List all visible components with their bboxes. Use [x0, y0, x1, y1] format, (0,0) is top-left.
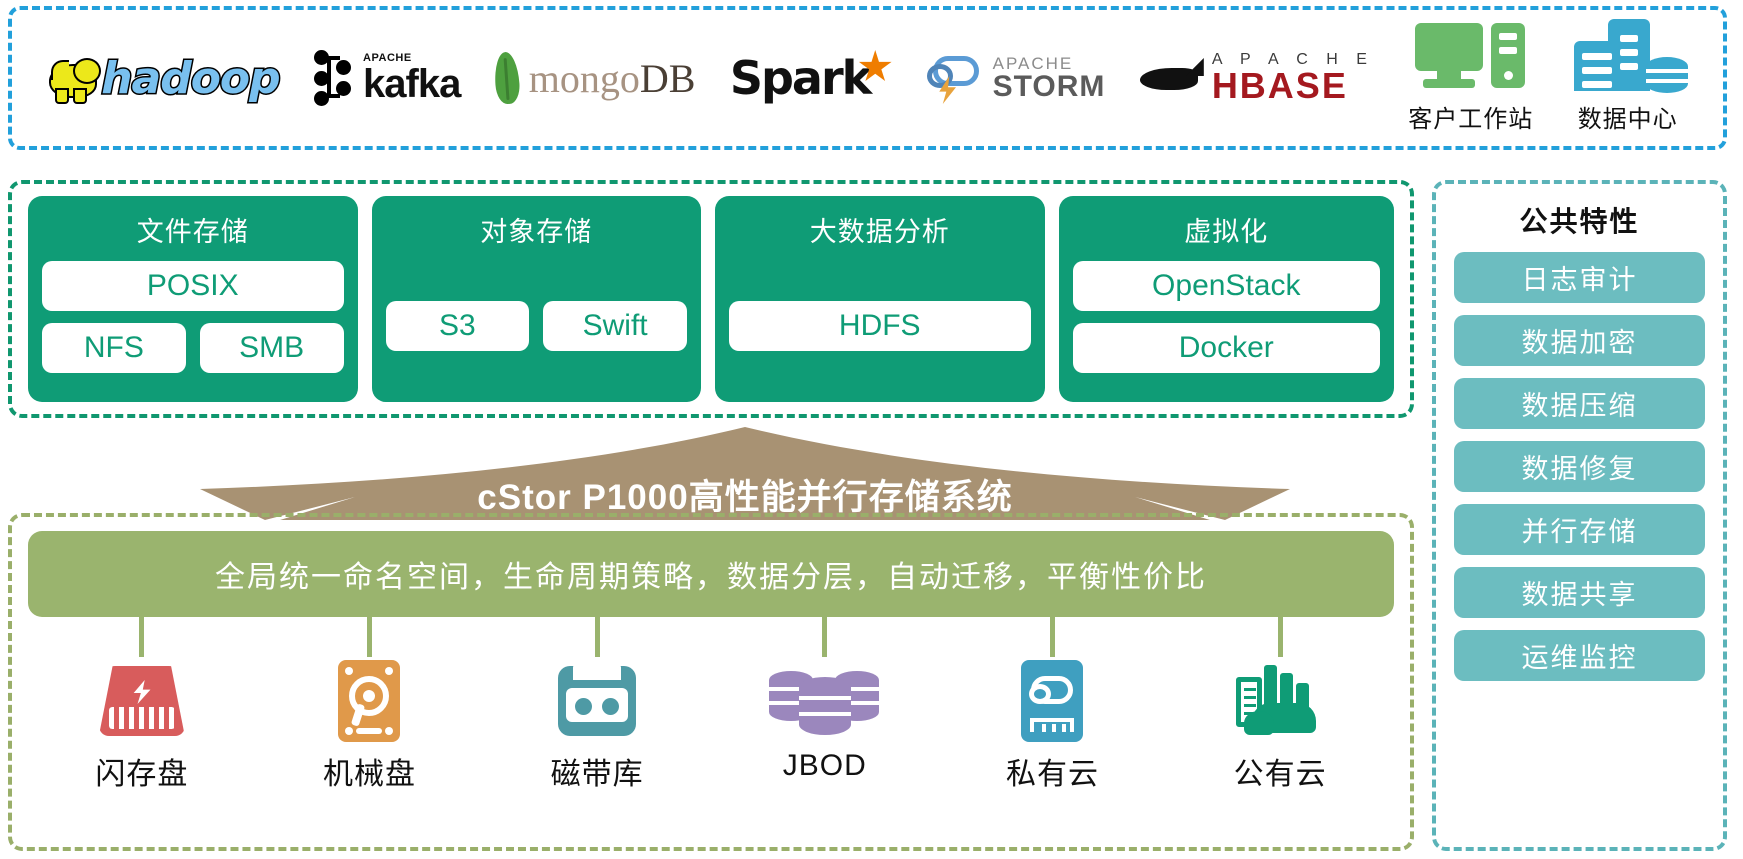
connector-line — [822, 617, 827, 657]
logo-hadoop: hadoop — [47, 43, 279, 113]
jbod-label: JBOD — [783, 749, 867, 783]
connector-line — [1278, 617, 1283, 657]
protocol-band: 文件存储 POSIX NFS SMB 对象存储 S3 Swift 大数据分析 H… — [8, 180, 1414, 418]
protocol-pill-openstack[interactable]: OpenStack — [1073, 261, 1381, 311]
pool-capability-banner: 全局统一命名空间，生命周期策略，数据分层，自动迁移，平衡性价比 — [28, 531, 1394, 617]
mongodb-leaf-icon — [493, 51, 521, 105]
media-item-private-cloud: 私有云 — [957, 617, 1147, 793]
hbase-whale-icon — [1140, 58, 1202, 98]
public-cloud-label: 公有云 — [1234, 749, 1327, 793]
protocol-pill-hdfs[interactable]: HDFS — [729, 301, 1031, 351]
private-cloud-label: 私有云 — [1006, 749, 1099, 793]
private-cloud-icon — [1021, 660, 1083, 742]
kafka-name-label: kafka — [363, 64, 460, 104]
mongodb-wordmark: mongoDB — [529, 55, 696, 102]
tape-library-label: 磁带库 — [551, 749, 644, 793]
protocol-pill-nfs[interactable]: NFS — [42, 323, 186, 373]
file-storage-title: 文件存储 — [137, 210, 249, 249]
endpoint-data-center: 数据中心 — [1568, 23, 1688, 134]
connector-line — [1050, 617, 1055, 657]
feature-chip-data-encryption[interactable]: 数据加密 — [1454, 315, 1705, 366]
storm-cloud-icon — [927, 52, 983, 104]
protocol-card-virtualization: 虚拟化 OpenStack Docker — [1059, 196, 1395, 402]
mongodb-name-light: mongo — [529, 56, 640, 101]
product-chevron-banner: cStor P1000高性能并行存储系统 — [200, 425, 1290, 520]
mongodb-name-dark: DB — [640, 56, 696, 101]
hdd-label: 机械盘 — [323, 749, 416, 793]
connector-line — [595, 617, 600, 657]
common-features-title: 公共特性 — [1519, 200, 1639, 240]
jbod-disk-stack-icon — [769, 663, 881, 739]
object-storage-title: 对象存储 — [480, 210, 592, 249]
feature-chip-data-repair[interactable]: 数据修复 — [1454, 441, 1705, 492]
feature-chip-ops-monitoring[interactable]: 运维监控 — [1454, 630, 1705, 681]
protocol-card-big-data-analytics: 大数据分析 HDFS — [715, 196, 1045, 402]
media-item-tape-library: 磁带库 — [502, 617, 692, 793]
logo-hbase: A P A C H E HBASE — [1140, 43, 1374, 113]
media-item-public-cloud: 公有云 — [1185, 617, 1375, 793]
logo-storm: APACHE STORM — [927, 43, 1106, 113]
storage-pool-band: 全局统一命名空间，生命周期策略，数据分层，自动迁移，平衡性价比 闪存盘 — [8, 513, 1414, 851]
big-data-title: 大数据分析 — [810, 210, 950, 249]
workstation-icon — [1415, 21, 1527, 95]
media-row: 闪存盘 机械盘 — [28, 617, 1394, 793]
kafka-wordmark: APACHE kafka — [363, 53, 460, 104]
feature-chip-parallel-storage[interactable]: 并行存储 — [1454, 504, 1705, 555]
protocol-card-object-storage: 对象存储 S3 Swift — [372, 196, 702, 402]
hbase-name-label: HBASE — [1212, 68, 1374, 104]
hdd-icon — [338, 660, 400, 742]
logo-spark: Spark — [730, 43, 892, 113]
datacenter-icon — [1568, 19, 1688, 97]
logo-mongodb: mongoDB — [495, 43, 696, 113]
hadoop-wordmark: hadoop — [101, 53, 279, 104]
media-item-flash-disk: 闪存盘 — [47, 617, 237, 793]
workstation-label: 客户工作站 — [1408, 99, 1533, 134]
spark-wordmark: Spark — [730, 51, 870, 105]
kafka-logo-icon — [314, 50, 358, 106]
storm-apache-label: APACHE — [993, 55, 1106, 72]
hbase-wordmark: A P A C H E HBASE — [1212, 52, 1374, 104]
connector-line — [367, 617, 372, 657]
feature-chip-data-compression[interactable]: 数据压缩 — [1454, 378, 1705, 429]
datacenter-label: 数据中心 — [1578, 99, 1678, 134]
storm-name-label: STORM — [993, 72, 1106, 102]
storm-wordmark: APACHE STORM — [993, 55, 1106, 102]
ecosystem-band: hadoop APACHE kafka — [8, 6, 1727, 150]
architecture-diagram: hadoop APACHE kafka — [0, 0, 1743, 859]
logo-kafka: APACHE kafka — [314, 43, 460, 113]
endpoint-client-workstation: 客户工作站 — [1408, 23, 1533, 134]
hadoop-elephant-icon — [47, 56, 99, 100]
protocol-pill-smb[interactable]: SMB — [200, 323, 344, 373]
flash-disk-label: 闪存盘 — [95, 749, 188, 793]
connector-line — [139, 617, 144, 657]
protocol-pill-posix[interactable]: POSIX — [42, 261, 344, 311]
protocol-pill-swift[interactable]: Swift — [543, 301, 687, 351]
media-item-hdd: 机械盘 — [274, 617, 464, 793]
virtualization-title: 虚拟化 — [1184, 210, 1268, 249]
feature-chip-data-sharing[interactable]: 数据共享 — [1454, 567, 1705, 618]
feature-chip-log-audit[interactable]: 日志审计 — [1454, 252, 1705, 303]
media-item-jbod: JBOD — [730, 617, 920, 783]
protocol-pill-docker[interactable]: Docker — [1073, 323, 1381, 373]
ssd-icon — [99, 666, 185, 736]
public-cloud-icon — [1232, 661, 1328, 741]
protocol-card-file-storage: 文件存储 POSIX NFS SMB — [28, 196, 358, 402]
protocol-pill-s3[interactable]: S3 — [386, 301, 530, 351]
tape-library-icon — [558, 666, 636, 736]
common-features-panel: 公共特性 日志审计 数据加密 数据压缩 数据修复 并行存储 数据共享 运维监控 — [1432, 180, 1727, 851]
